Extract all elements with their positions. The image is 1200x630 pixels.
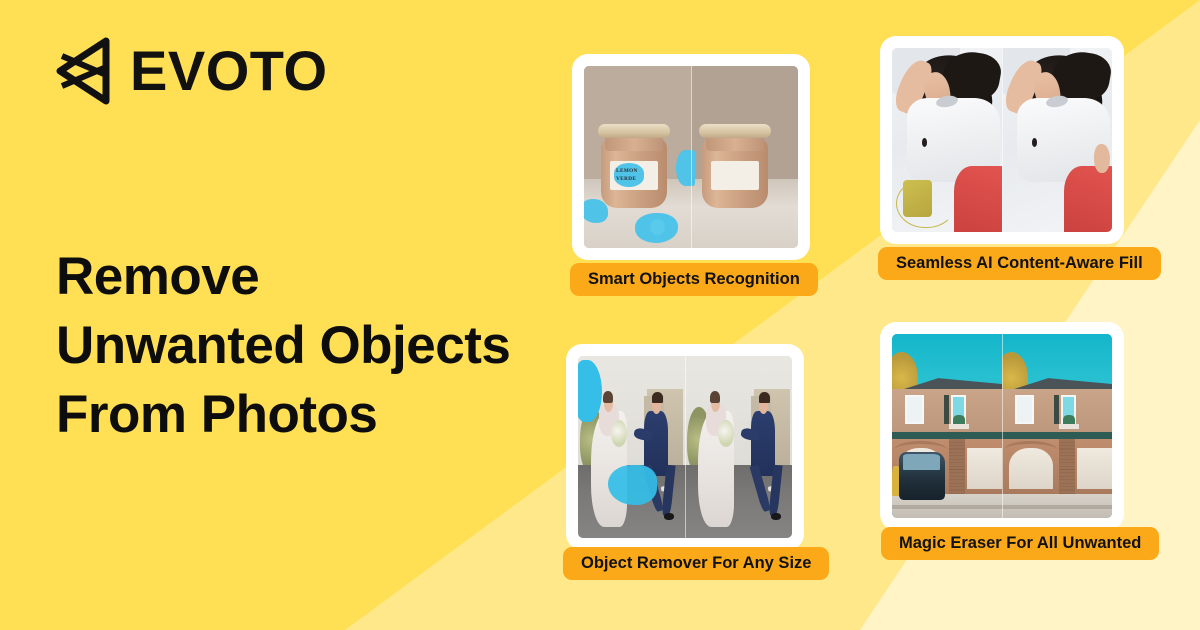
removed-object-purse — [903, 180, 932, 217]
feature-card-object-remover-for-any-size[interactable] — [566, 344, 804, 550]
caption-magic-eraser-for-all-unwanted[interactable]: Magic Eraser For All Unwanted — [881, 527, 1159, 560]
mask-blob — [578, 360, 602, 422]
mask-blob — [584, 199, 608, 223]
before-after-photo-jars: LEMON VERDE — [584, 66, 798, 248]
jar-label-text: LEMON VERDE — [616, 168, 638, 184]
caption-object-remover-for-any-size[interactable]: Object Remover For Any Size — [563, 547, 829, 580]
brand-logo[interactable]: EVOTO — [52, 36, 328, 106]
feature-card-seamless-ai-content-aware-fill[interactable] — [880, 36, 1124, 244]
mask-blob — [608, 465, 657, 505]
mask-blob — [676, 150, 695, 186]
removed-object-car-window — [903, 454, 940, 471]
caption-seamless-ai-content-aware-fill[interactable]: Seamless AI Content-Aware Fill — [878, 247, 1161, 280]
headline-line-2: Unwanted Objects — [56, 312, 510, 381]
headline-line-3: From Photos — [56, 381, 510, 450]
before-after-photo-wedding — [578, 356, 792, 538]
promo-banner: EVOTO Remove Unwanted Objects From Photo… — [0, 0, 1200, 630]
headline-line-1: Remove — [56, 243, 510, 312]
brand-wordmark: EVOTO — [130, 43, 328, 99]
evoto-mark-icon — [52, 36, 114, 106]
page-title: Remove Unwanted Objects From Photos — [56, 243, 510, 450]
caption-smart-objects-recognition[interactable]: Smart Objects Recognition — [570, 263, 818, 296]
before-after-photo-woman-bed — [892, 48, 1112, 232]
feature-card-smart-objects-recognition[interactable]: LEMON VERDE — [572, 54, 810, 260]
before-after-photo-house — [892, 334, 1112, 518]
feature-card-magic-eraser-for-all-unwanted[interactable] — [880, 322, 1124, 530]
